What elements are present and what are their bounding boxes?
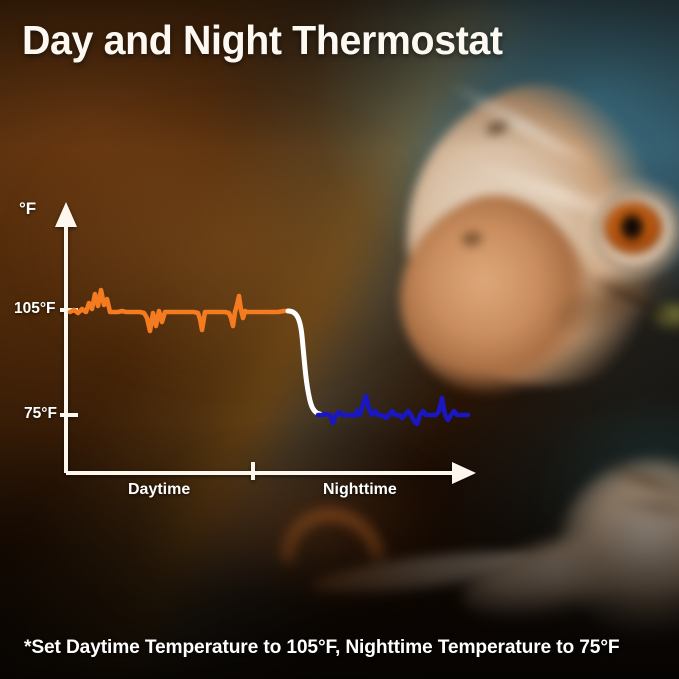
daytime-temperature-line — [70, 290, 290, 331]
y-tick-label-105: 105°F — [14, 300, 56, 318]
product-infographic: Day and Night Thermostat °F — [0, 0, 679, 679]
lizard-tail-curl — [260, 488, 405, 633]
y-axis-arrowhead — [55, 202, 77, 227]
x-axis-label-daytime: Daytime — [128, 481, 190, 499]
footnote-caption: *Set Daytime Temperature to 105°F, Night… — [24, 636, 619, 659]
x-axis-label-nighttime: Nighttime — [323, 481, 397, 499]
y-tick-label-75: 75°F — [24, 405, 57, 423]
bearded-dragon-head-photo — [398, 70, 679, 400]
nighttime-temperature-line — [318, 396, 468, 424]
y-axis-unit-label: °F — [19, 199, 36, 219]
transition-curve — [288, 311, 320, 414]
page-title: Day and Night Thermostat — [22, 17, 503, 64]
lizard-pupil — [620, 214, 644, 240]
